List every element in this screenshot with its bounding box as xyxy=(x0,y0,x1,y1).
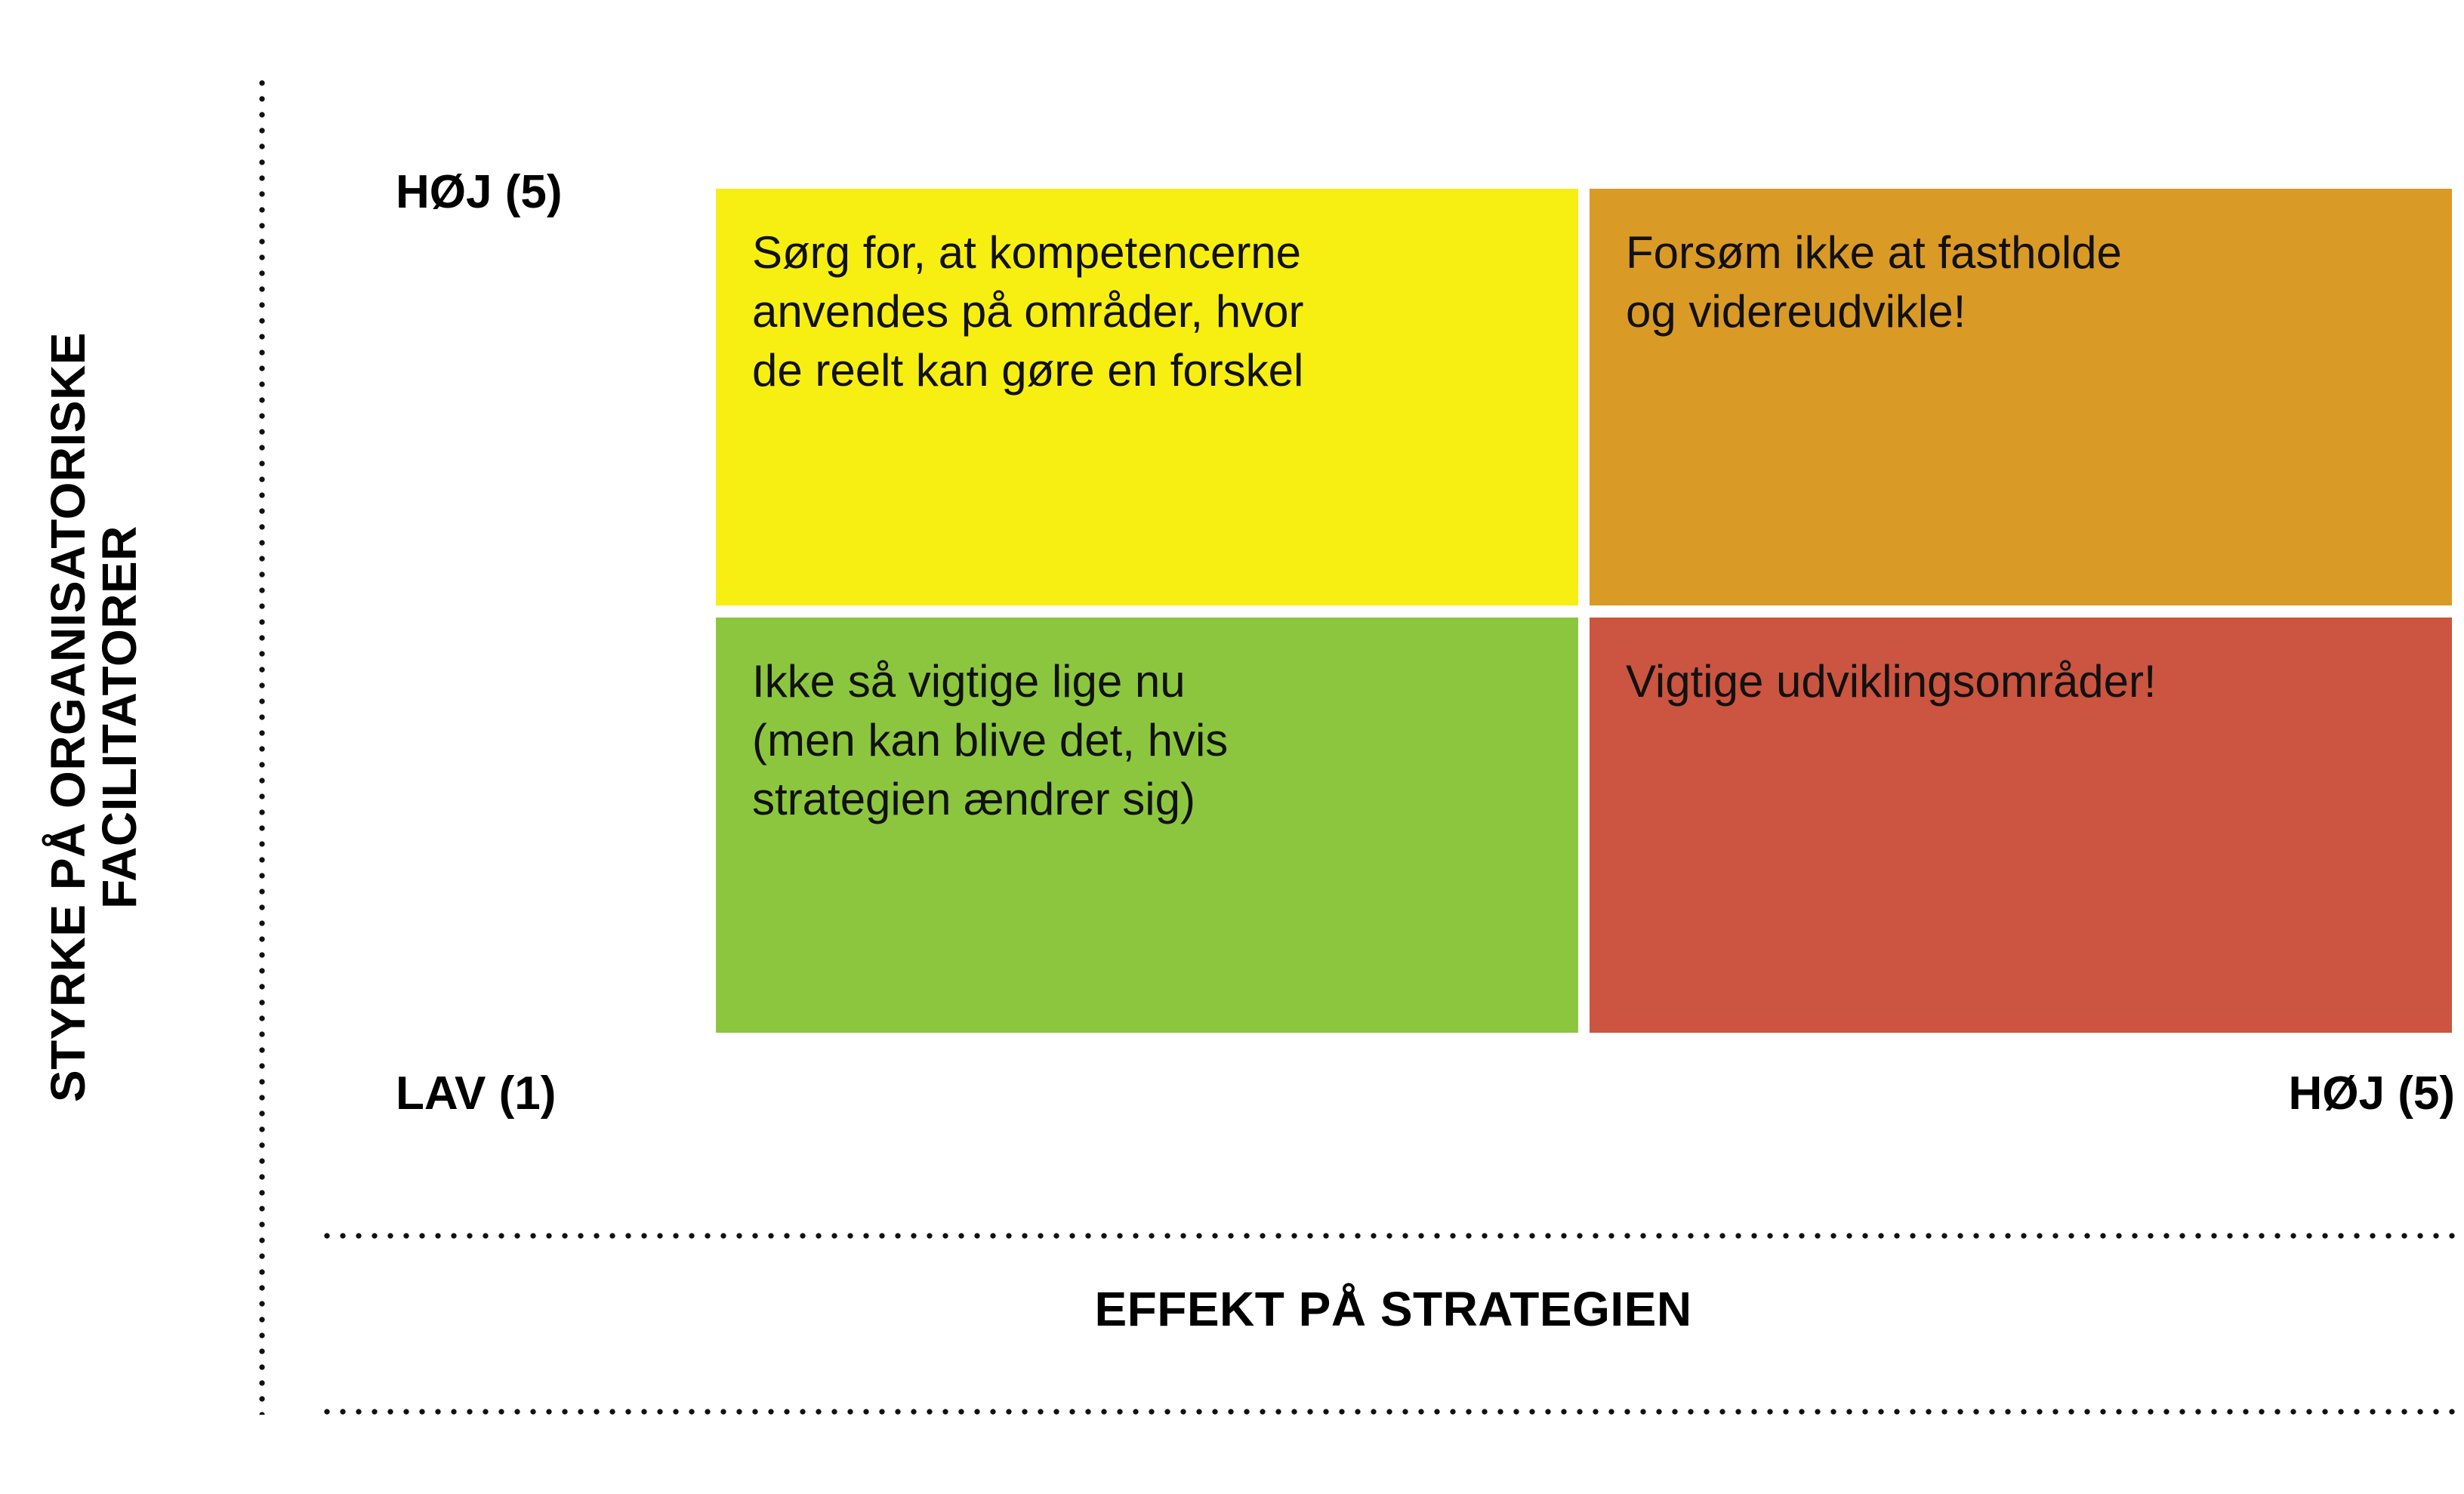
x-axis-high-label: HØJ (5) xyxy=(2289,1067,2455,1120)
quadrant-text-line1: Forsøm ikke at fastholde xyxy=(1626,223,2416,282)
quadrant-text-line1: Ikke så vigtige lige nu xyxy=(752,652,1542,711)
y-axis-high-label: HØJ (5) xyxy=(396,165,562,219)
y-axis-title-line1: STYRKE PÅ ORGANISATORISKE xyxy=(43,332,94,1102)
quadrant-text-line3: de reelt kan gøre en forskel xyxy=(752,341,1542,400)
quadrant-text: Sørg for, at kompetencerne anvendes på o… xyxy=(752,223,1542,400)
x-axis-low-label: LAV (1) xyxy=(396,1067,556,1120)
quadrant-low-strength-low-effect[interactable]: Ikke så vigtige lige nu (men kan blive d… xyxy=(716,618,1578,1033)
quadrant-text: Ikke så vigtige lige nu (men kan blive d… xyxy=(752,652,1542,829)
matrix-diagram: STYRKE PÅ ORGANISATORISKE FACILITATORER … xyxy=(0,0,2464,1494)
quadrant-text-line2: og videreudvikle! xyxy=(1626,282,2416,341)
quadrant-text: Vigtige udviklingsområder! xyxy=(1626,652,2416,711)
horizontal-dotted-line-lower xyxy=(322,1407,2464,1416)
y-axis-title-line2: FACILITATORER xyxy=(94,525,146,909)
quadrant-high-strength-low-effect[interactable]: Sørg for, at kompetencerne anvendes på o… xyxy=(716,189,1578,605)
quadrant-text-line1: Vigtige udviklingsområder! xyxy=(1626,652,2416,711)
horizontal-dotted-line-upper xyxy=(322,1231,2464,1240)
y-axis-title: STYRKE PÅ ORGANISATORISKE FACILITATORER xyxy=(19,60,170,1374)
quadrant-text-line3: strategien ændrer sig) xyxy=(752,770,1542,829)
x-axis-title: EFFEKT PÅ STRATEGIEN xyxy=(322,1281,2464,1337)
quadrant-text-line1: Sørg for, at kompetencerne xyxy=(752,223,1542,282)
quadrant-text-line2: (men kan blive det, hvis xyxy=(752,711,1542,770)
quadrant-low-strength-high-effect[interactable]: Vigtige udviklingsområder! xyxy=(1590,618,2452,1033)
quadrant-high-strength-high-effect[interactable]: Forsøm ikke at fastholde og videreudvikl… xyxy=(1590,189,2452,605)
quadrant-text-line2: anvendes på områder, hvor xyxy=(752,282,1542,341)
quadrant-text: Forsøm ikke at fastholde og videreudvikl… xyxy=(1626,223,2416,341)
vertical-dotted-axis-line xyxy=(258,79,267,1415)
